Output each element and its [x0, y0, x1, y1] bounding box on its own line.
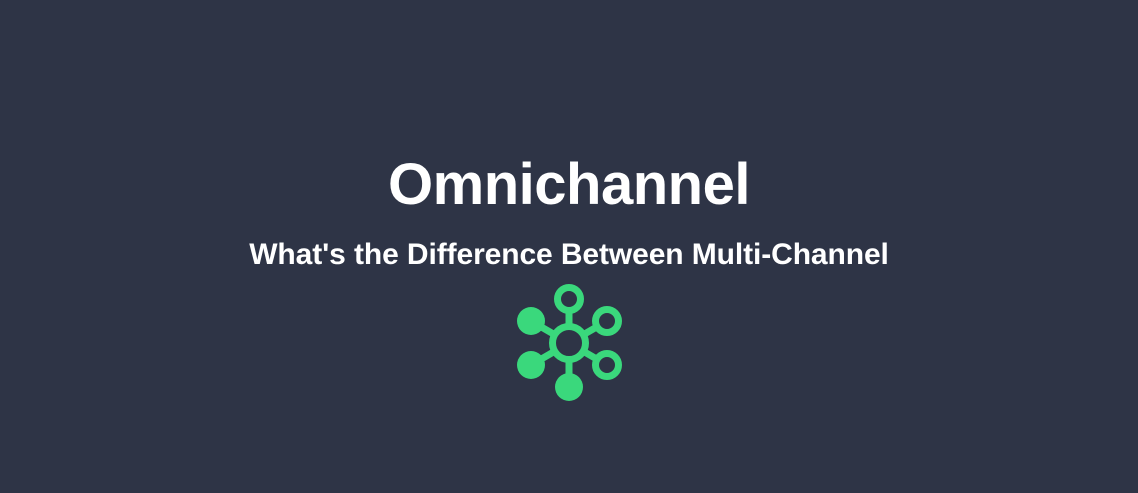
network-hub-icon [502, 277, 636, 409]
hero-graphic-container [0, 277, 1138, 409]
node-bottom-dot [555, 373, 583, 401]
page-subtitle: What's the Difference Between Multi-Chan… [0, 236, 1138, 274]
node-upper-right-ring [596, 310, 619, 333]
node-lower-left-dot [517, 351, 545, 379]
node-upper-left-dot [517, 307, 545, 335]
omnichannel-hero-banner: Omnichannel What's the Difference Betwee… [0, 0, 1138, 493]
page-title: Omnichannel [0, 153, 1138, 217]
node-top-ring [558, 288, 581, 311]
network-hub-ring [553, 327, 586, 360]
node-lower-right-ring [596, 354, 619, 377]
